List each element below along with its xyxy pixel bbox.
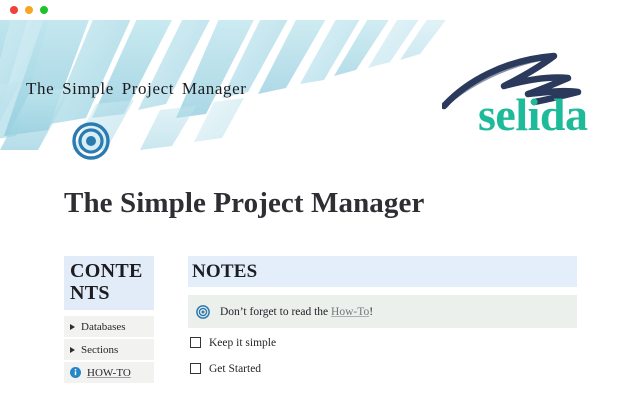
sidebar-item-databases[interactable]: Databases — [64, 316, 154, 337]
contents-list: Databases Sections HOW-TO — [64, 316, 154, 383]
window-titlebar — [0, 0, 640, 20]
notes-header: NOTES — [188, 256, 577, 287]
notes-panel: NOTES Don’t forget to read the How-To! K… — [188, 256, 577, 380]
how-to-link[interactable]: How-To — [331, 306, 369, 318]
target-icon — [72, 122, 110, 160]
app-window: The Simple Project Manager selida The Si… — [0, 0, 640, 400]
selida-logo: selida — [442, 52, 612, 142]
target-icon — [196, 305, 210, 319]
minimize-button[interactable] — [25, 6, 33, 14]
page-title: The Simple Project Manager — [64, 186, 424, 220]
callout-row: Don’t forget to read the How-To! — [188, 295, 577, 328]
callout-text-after: ! — [369, 306, 373, 318]
todo-item-get-started[interactable]: Get Started — [188, 357, 577, 380]
sidebar-item-how-to[interactable]: HOW-TO — [64, 362, 154, 383]
todo-item-keep-it-simple[interactable]: Keep it simple — [188, 331, 577, 354]
selida-wordmark: selida — [478, 92, 587, 138]
checkbox-icon[interactable] — [190, 337, 201, 348]
triangle-right-icon[interactable] — [70, 347, 75, 353]
contents-header: CONTENTS — [64, 256, 154, 310]
close-button[interactable] — [10, 6, 18, 14]
sidebar-item-label: HOW-TO — [87, 367, 131, 379]
sidebar-item-label: Databases — [81, 321, 126, 333]
callout-text: Don’t forget to read the How-To! — [220, 306, 373, 318]
banner-title: The Simple Project Manager — [26, 79, 247, 99]
window-controls — [10, 6, 48, 14]
triangle-right-icon[interactable] — [70, 324, 75, 330]
contents-panel: CONTENTS Databases Sections HOW-TO — [64, 256, 154, 385]
checkbox-icon[interactable] — [190, 363, 201, 374]
todo-label: Keep it simple — [209, 337, 276, 349]
todo-label: Get Started — [209, 363, 261, 375]
info-icon[interactable] — [70, 367, 81, 378]
sidebar-item-sections[interactable]: Sections — [64, 339, 154, 360]
sidebar-item-label: Sections — [81, 344, 118, 356]
maximize-button[interactable] — [40, 6, 48, 14]
callout-text-before: Don’t forget to read the — [220, 306, 331, 318]
